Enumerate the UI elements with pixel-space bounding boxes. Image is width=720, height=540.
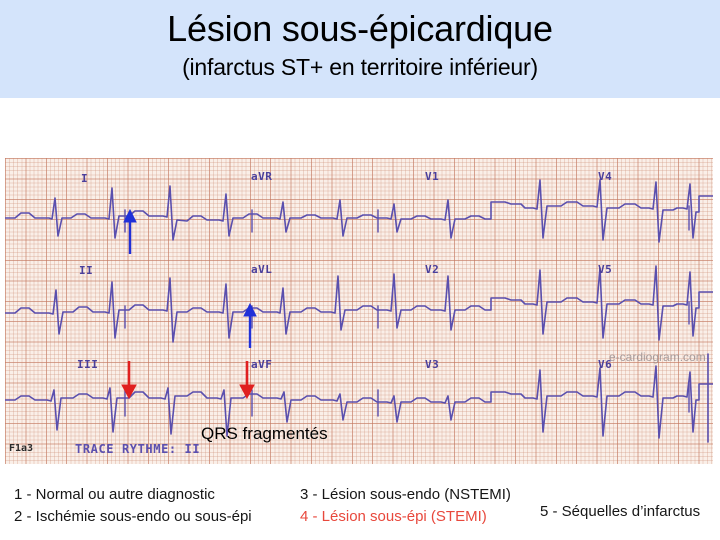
legend-item-4: 4 - Lésion sous-épi (STEMI)	[300, 506, 511, 528]
lead-label-aVR: aVR	[251, 170, 272, 183]
arrow-lead-I-up	[119, 208, 141, 256]
watermark-ecardiogram-mid: e-cardiogram.com	[609, 350, 706, 364]
rhythm-strip-label: TRACE RYTHME: II	[75, 442, 200, 456]
ecg-trace-svg	[5, 158, 713, 464]
page-subtitle: (infarctus ST+ en territoire inférieur)	[0, 52, 720, 82]
arrow-lead-aVL-up	[239, 302, 261, 350]
lead-label-II: II	[79, 264, 93, 277]
arrow-lead-III-down	[118, 360, 140, 400]
lead-label-V1: V1	[425, 170, 439, 183]
lead-label-V5: V5	[598, 263, 612, 276]
arrow-lead-aVF-down	[236, 360, 258, 400]
lead-label-V3: V3	[425, 358, 439, 371]
lead-label-V2: V2	[425, 263, 439, 276]
legend-item-1: 1 - Normal ou autre diagnostic	[14, 484, 252, 506]
lead-label-aVL: aVL	[251, 263, 272, 276]
lead-label-I: I	[81, 172, 88, 185]
lead-label-V4: V4	[598, 170, 612, 183]
qrs-fragmented-annotation: QRS fragmentés	[201, 424, 328, 444]
slide-root: Lésion sous-épicardique (infarctus ST+ e…	[0, 0, 720, 540]
ecg-figure: I aVR V1 V4 II aVL V2 V5 III aVF V3 V6	[5, 158, 713, 464]
legend-column-c: 5 - Séquelles d’infarctus	[540, 501, 700, 523]
legend-item-5: 5 - Séquelles d’infarctus	[540, 501, 700, 523]
frame-id-label: F1a3	[9, 443, 33, 454]
page-title: Lésion sous-épicardique	[0, 6, 720, 52]
legend-item-3: 3 - Lésion sous-endo (NSTEMI)	[300, 484, 511, 506]
header-band: Lésion sous-épicardique (infarctus ST+ e…	[0, 0, 720, 98]
legend-column-b: 3 - Lésion sous-endo (NSTEMI) 4 - Lésion…	[300, 484, 511, 528]
legend-item-2: 2 - Ischémie sous-endo ou sous-épi	[14, 506, 252, 528]
legend-column-a: 1 - Normal ou autre diagnostic 2 - Isché…	[14, 484, 252, 528]
diagnosis-legend: 1 - Normal ou autre diagnostic 2 - Isché…	[0, 478, 720, 540]
lead-label-III: III	[77, 358, 98, 371]
